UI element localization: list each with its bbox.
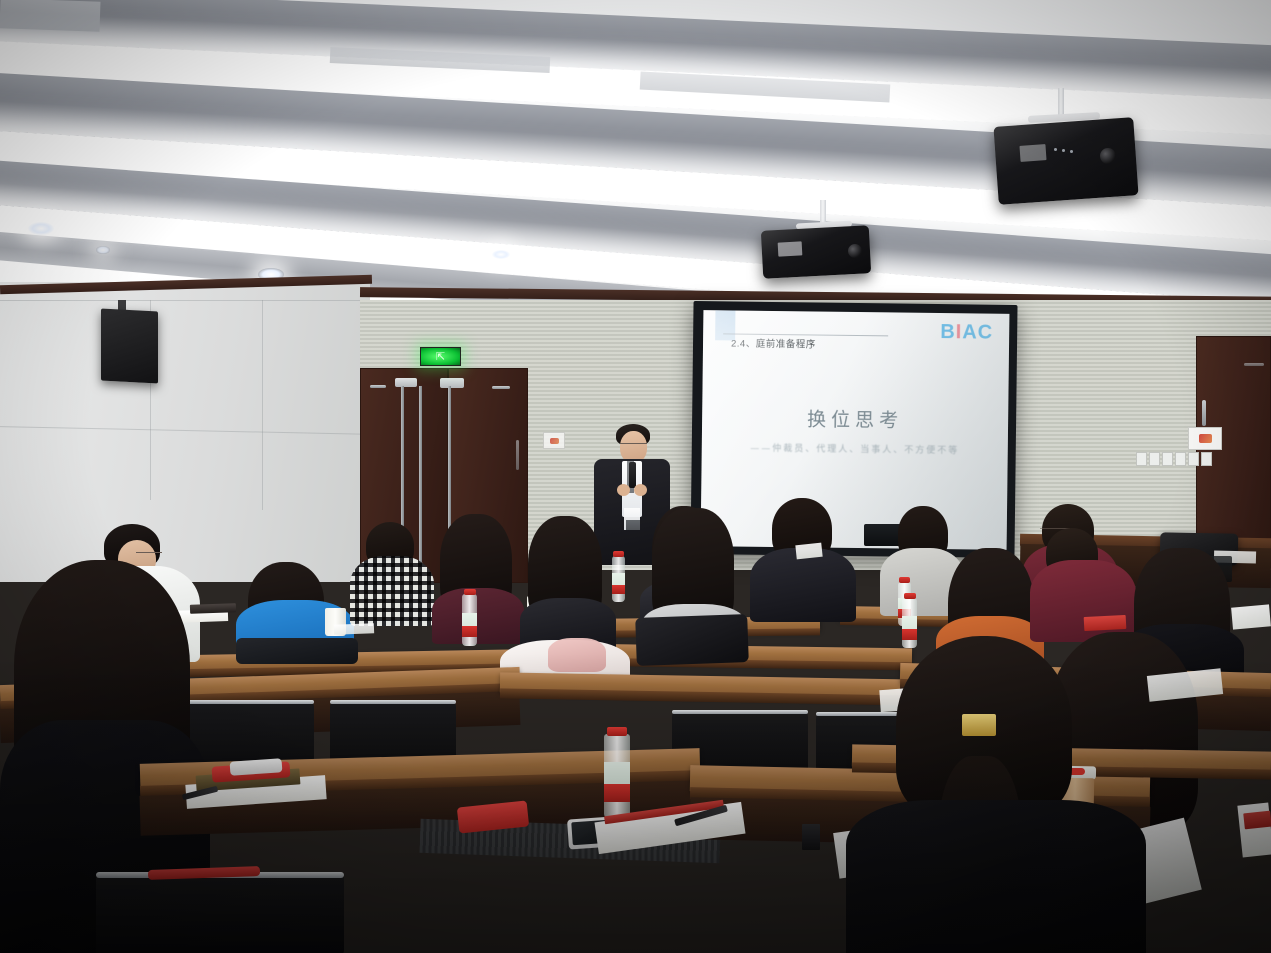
papers-r3-right [1231,604,1271,629]
wall-sign-left-icon [550,438,559,444]
notebook-r3-left [190,603,236,614]
light-switch-1[interactable] [1136,452,1147,466]
person-r4-suit-torso [750,548,856,622]
small-black-object [802,824,820,850]
person-r3-maroon-torso [432,588,524,644]
handbag-r3 [635,614,749,666]
paper-r3-mid [334,623,374,634]
projector-right-panel [1019,144,1046,162]
door-push-bar-mid[interactable] [419,386,422,566]
water-bottle-r3-b [902,598,917,648]
person-r3-maroon-man-torso [1030,560,1136,642]
downlight-3 [492,250,510,259]
pink-scarf-r3 [548,638,606,672]
door-handle-left[interactable] [370,385,386,388]
light-switch-6[interactable] [1201,452,1212,466]
door-back-right-handle[interactable] [1202,400,1206,426]
presenter-hand-left [617,484,630,496]
projector-right [993,117,1138,205]
door-edge-trim [516,440,519,470]
person-fg-ponytail-torso [846,800,1146,953]
red-booklet-edge [1243,811,1271,830]
downlight-4 [96,246,110,254]
light-switch-2[interactable] [1149,452,1160,466]
screen-glare [701,310,1010,550]
chair-row2-b-rim [330,700,456,704]
wall-sign-left [543,432,565,449]
door-plate-right [440,378,464,388]
person-r3-white-glasses [136,552,162,557]
water-bottle-r3-a [462,594,477,646]
light-switch-3[interactable] [1162,452,1173,466]
presenter-glasses [620,443,647,448]
exit-glyph: ⇱ [436,350,445,363]
person-r3-blue-chairback [236,638,358,664]
projector-left-panel [778,241,803,256]
collar-r4-suit [795,543,822,560]
water-bottle-r4-b [612,556,625,602]
water-bottle-foreground [604,734,630,818]
light-switch-bank[interactable] [1136,452,1212,466]
chair-row2-c-rim [672,710,808,714]
wall-sign-icon [1199,434,1212,443]
emergency-exit-sign: ⇱ [420,347,461,366]
door-plate-left [395,378,417,387]
presenter-belt [626,520,640,530]
light-switch-5[interactable] [1188,452,1199,466]
projection-screen: 2.4、庭前准备程序 BIAC 换位思考 ——仲裁员、代理人、当事人、不方便不等 [701,310,1010,550]
door-handle-right[interactable] [492,386,510,389]
presenter-hand-right [634,484,647,496]
ceiling-vent-1 [0,0,100,32]
door-back-right[interactable] [1196,336,1271,566]
downlight-1 [28,222,54,235]
hair-clip-gold [962,714,996,736]
wall-speaker [101,309,158,384]
person-r3-check-torso [350,556,434,626]
microphone [629,462,636,488]
light-switch-4[interactable] [1175,452,1186,466]
chair-row2-a-rim [186,700,314,704]
conference-room-photo: ⇱ 2.4、庭前准备程序 BIAC 换位思考 ——仲裁员、代理人、当事人、不方便… [0,0,1271,953]
chair-foreground-left[interactable] [96,872,344,953]
wall-sign [1188,427,1222,450]
red-booklet-r3 [1084,615,1127,631]
